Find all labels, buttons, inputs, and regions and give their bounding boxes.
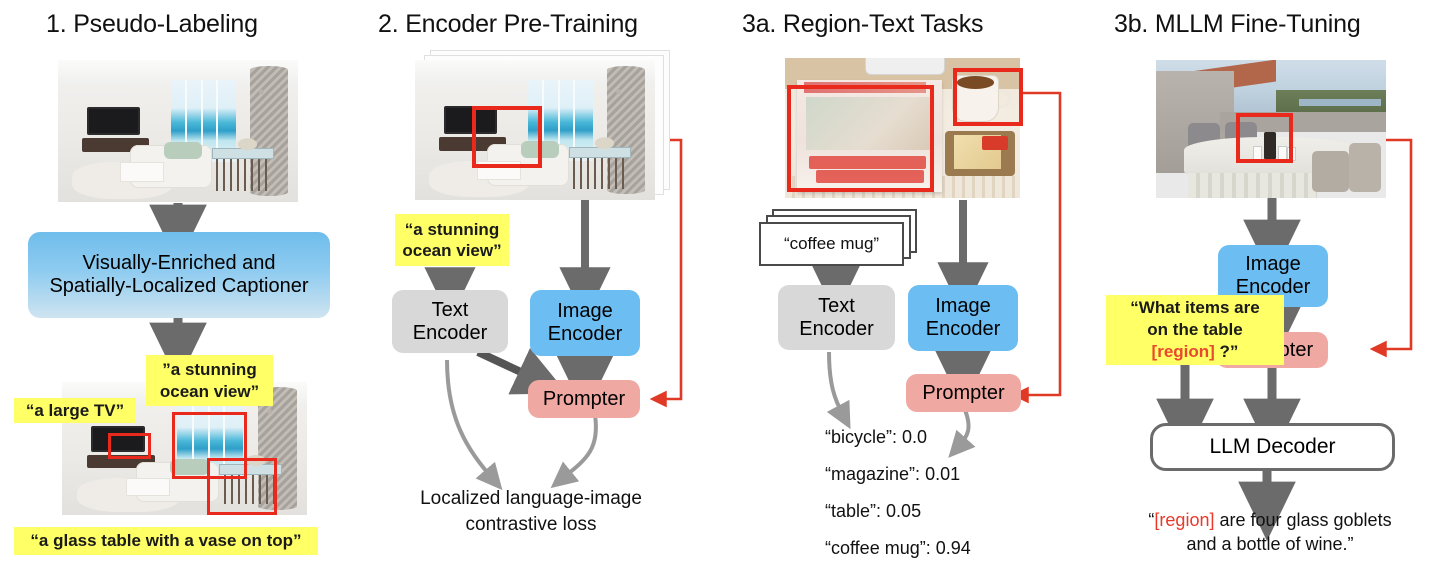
chip-question: “What items are on the table [region] ?” — [1106, 295, 1284, 365]
region-box-tv — [108, 433, 151, 459]
image-encoder-box-col2[interactable]: Image Encoder — [530, 290, 640, 356]
chip-ocean-view: ”a stunning ocean view” — [146, 355, 273, 406]
column-title-4: 3b. MLLM Fine-Tuning — [1114, 10, 1361, 39]
col2-arrow-textencoder-to-prompter — [478, 352, 538, 380]
text-encoder-box-col2[interactable]: Text Encoder — [392, 290, 508, 353]
text-card-label: “coffee mug” — [759, 222, 904, 266]
prompter-box-col3[interactable]: Prompter — [906, 374, 1021, 412]
question-line-3-tail: ?” — [1215, 342, 1239, 361]
col3-curve-prompter-to-scores — [959, 410, 969, 446]
question-region-token: [region] — [1152, 342, 1215, 361]
region-box-ocean-view-pretrain — [472, 106, 542, 168]
chip-caption-ocean-view: “a stunning ocean view” — [395, 214, 509, 266]
contrastive-loss-label: Localized language-image contrastive los… — [386, 486, 676, 537]
text-encoder-box-col3[interactable]: Text Encoder — [778, 285, 895, 350]
answer-region-token: [region] — [1154, 510, 1214, 530]
col2-curve-prompter-to-loss — [563, 415, 596, 478]
region-box-glass-table — [207, 458, 277, 515]
chip-glass-table: “a glass table with a vase on top” — [14, 527, 318, 555]
region-box-coffee-mug — [953, 68, 1023, 126]
region-box-goblets — [1236, 113, 1293, 163]
image-encoder-box-col3[interactable]: Image Encoder — [908, 285, 1018, 351]
score-row-1: “magazine”: 0.01 — [825, 464, 960, 485]
answer-line-2: and a bottle of wine.” — [1186, 534, 1353, 554]
column-title-3: 3a. Region-Text Tasks — [742, 10, 983, 39]
score-row-2: “table”: 0.05 — [825, 501, 921, 522]
prompter-box-col2[interactable]: Prompter — [528, 380, 640, 418]
question-line-3: [region] ?” — [1152, 341, 1239, 363]
score-value-1: 0.01 — [925, 464, 960, 484]
score-value-3: 0.94 — [936, 538, 971, 558]
col3-curve-textencoder-to-scores — [829, 352, 843, 415]
photo-living-room-top — [58, 60, 298, 202]
score-row-3: “coffee mug”: 0.94 — [825, 538, 971, 559]
llm-decoder-box[interactable]: LLM Decoder — [1150, 423, 1395, 471]
figure-canvas: 1. Pseudo-Labeling Visually-Enriched and… — [0, 0, 1443, 582]
score-value-0: 0.0 — [902, 427, 927, 447]
score-value-2: 0.05 — [886, 501, 921, 521]
score-label-1: “magazine” — [825, 464, 915, 484]
region-box-magazine — [787, 85, 934, 192]
score-label-2: “table” — [825, 501, 876, 521]
score-row-0: “bicycle”: 0.0 — [825, 427, 927, 448]
answer-text: “[region] are four glass goblets and a b… — [1098, 508, 1442, 557]
chip-large-tv: “a large TV” — [14, 398, 136, 423]
question-line-2: on the table — [1147, 319, 1242, 341]
column-title-1: 1. Pseudo-Labeling — [46, 10, 258, 39]
question-line-1: “What items are — [1130, 297, 1259, 319]
captioner-box[interactable]: Visually-Enriched and Spatially-Localize… — [28, 232, 330, 318]
column-title-2: 2. Encoder Pre-Training — [378, 10, 638, 39]
answer-line-1-tail: are four glass goblets — [1214, 510, 1391, 530]
score-label-0: “bicycle” — [825, 427, 892, 447]
col2-curve-textencoder-to-loss — [447, 360, 492, 478]
col3-red-region-connector — [1019, 93, 1060, 395]
score-label-3: “coffee mug” — [825, 538, 926, 558]
